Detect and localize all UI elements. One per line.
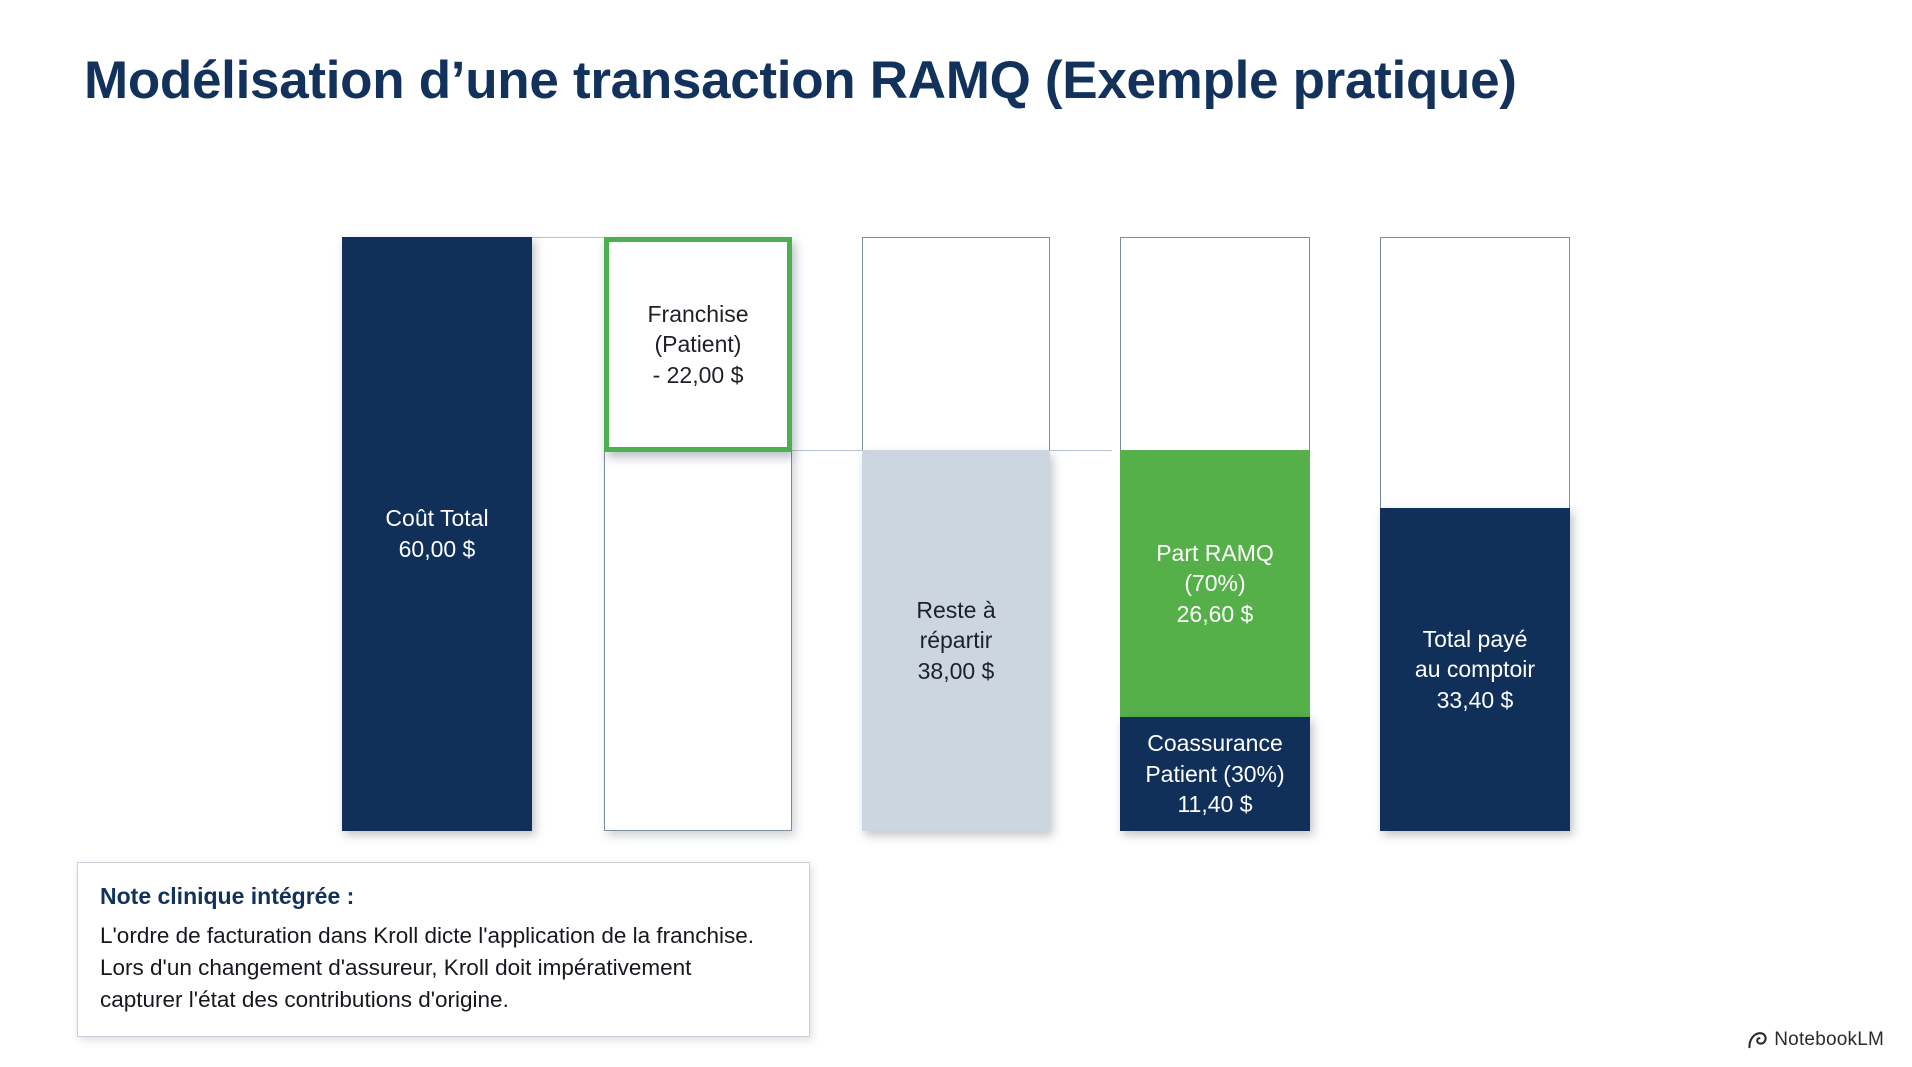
- bar-ghost-reste: [862, 237, 1050, 451]
- bar-cout-total[interactable]: Coût Total 60,00 $: [342, 237, 532, 831]
- bar-label-franchise: Franchise (Patient) - 22,00 $: [648, 299, 749, 391]
- notebooklm-label: NotebookLM: [1774, 1029, 1884, 1051]
- bar-ghost-total-paye: [1380, 237, 1570, 509]
- bar-reste-a-repartir[interactable]: Reste à répartir 38,00 $: [862, 237, 1050, 831]
- notebooklm-spiral-icon: [1747, 1031, 1767, 1049]
- bar-repartition[interactable]: Part RAMQ (70%) 26,60 $ Coassurance Pati…: [1120, 237, 1310, 831]
- bar-segment-total-paye[interactable]: Total payé au comptoir 33,40 $: [1380, 508, 1570, 831]
- bar-segment-coassurance-patient[interactable]: Coassurance Patient (30%) 11,40 $: [1120, 717, 1310, 831]
- bar-label-part-ramq: Part RAMQ (70%) 26,60 $: [1156, 538, 1274, 630]
- bar-label-total-paye: Total payé au comptoir 33,40 $: [1415, 624, 1535, 716]
- bar-label-cout-total: Coût Total 60,00 $: [385, 503, 488, 564]
- bar-segment-part-ramq[interactable]: Part RAMQ (70%) 26,60 $: [1120, 450, 1310, 717]
- bar-label-coassurance-patient: Coassurance Patient (30%) 11,40 $: [1145, 728, 1284, 820]
- bar-ghost-repartition: [1120, 237, 1310, 451]
- bar-segment-cout-total[interactable]: Coût Total 60,00 $: [342, 237, 532, 831]
- bar-label-reste: Reste à répartir 38,00 $: [916, 595, 995, 687]
- bar-segment-reste[interactable]: Reste à répartir 38,00 $: [862, 450, 1050, 831]
- bar-franchise-patient[interactable]: Franchise (Patient) - 22,00 $: [604, 237, 792, 831]
- clinical-note-title: Note clinique intégrée :: [100, 883, 787, 910]
- bar-total-paye-comptoir[interactable]: Total payé au comptoir 33,40 $: [1380, 237, 1570, 831]
- clinical-note-body: L'ordre de facturation dans Kroll dicte …: [100, 920, 787, 1016]
- connector-line-top: [531, 237, 608, 238]
- clinical-note-box: Note clinique intégrée : L'ordre de fact…: [77, 862, 810, 1037]
- bar-segment-franchise[interactable]: Franchise (Patient) - 22,00 $: [604, 237, 792, 452]
- notebooklm-watermark: NotebookLM: [1747, 1029, 1884, 1051]
- bar-ghost-franchise: [604, 451, 792, 831]
